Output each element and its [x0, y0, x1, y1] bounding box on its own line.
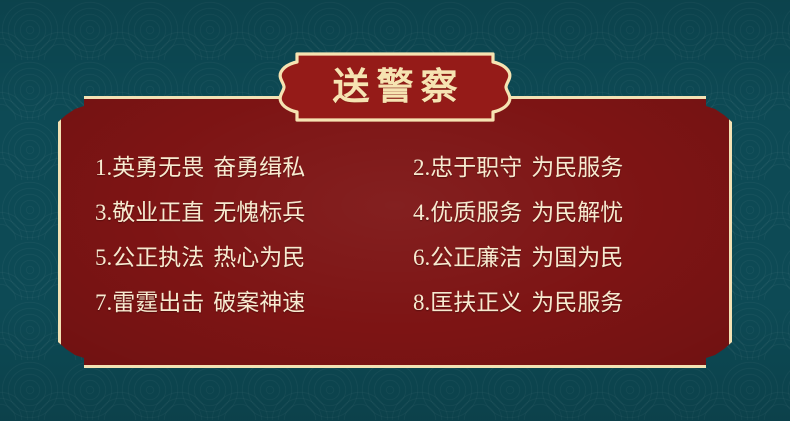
slogan-number: 4.	[413, 200, 430, 225]
slogan-list: 1.英勇无畏奋勇缉私 2.忠于职守为民服务 3.敬业正直无愧标兵 4.优质服务为…	[61, 145, 735, 325]
slogan-phrase-a: 匡扶正义	[430, 290, 522, 315]
slogan-phrase-a: 公正廉洁	[430, 245, 522, 270]
slogan-item-4: 4.优质服务为民解忧	[401, 201, 735, 224]
slogan-card: 1.英勇无畏奋勇缉私 2.忠于职守为民服务 3.敬业正直无愧标兵 4.优质服务为…	[58, 96, 732, 368]
slogan-phrase-b: 破案神速	[213, 290, 305, 315]
slogan-number: 8.	[413, 290, 430, 315]
slogan-number: 5.	[95, 245, 112, 270]
poster-stage: 1.英勇无畏奋勇缉私 2.忠于职守为民服务 3.敬业正直无愧标兵 4.优质服务为…	[0, 0, 790, 421]
banner-title: 送警察	[259, 52, 531, 122]
slogan-phrase-a: 英勇无畏	[112, 155, 204, 180]
slogan-item-8: 8.匡扶正义为民服务	[401, 291, 735, 314]
slogan-phrase-b: 为民解忧	[531, 200, 623, 225]
slogan-item-5: 5.公正执法热心为民	[61, 246, 401, 269]
slogan-item-1: 1.英勇无畏奋勇缉私	[61, 156, 401, 179]
slogan-phrase-b: 为民服务	[531, 290, 623, 315]
slogan-item-6: 6.公正廉洁为国为民	[401, 246, 735, 269]
slogan-phrase-a: 忠于职守	[430, 155, 522, 180]
slogan-phrase-a: 优质服务	[430, 200, 522, 225]
slogan-number: 7.	[95, 290, 112, 315]
slogan-item-3: 3.敬业正直无愧标兵	[61, 201, 401, 224]
slogan-phrase-b: 无愧标兵	[213, 200, 305, 225]
slogan-phrase-a: 公正执法	[112, 245, 204, 270]
slogan-row: 5.公正执法热心为民 6.公正廉洁为国为民	[61, 235, 735, 280]
slogan-phrase-a: 雷霆出击	[112, 290, 204, 315]
title-banner: 送警察	[259, 52, 531, 122]
slogan-row: 7.雷霆出击破案神速 8.匡扶正义为民服务	[61, 280, 735, 325]
slogan-row: 1.英勇无畏奋勇缉私 2.忠于职守为民服务	[61, 145, 735, 190]
slogan-row: 3.敬业正直无愧标兵 4.优质服务为民解忧	[61, 190, 735, 235]
slogan-phrase-b: 奋勇缉私	[213, 155, 305, 180]
slogan-item-7: 7.雷霆出击破案神速	[61, 291, 401, 314]
slogan-number: 2.	[413, 155, 430, 180]
slogan-number: 3.	[95, 200, 112, 225]
slogan-number: 6.	[413, 245, 430, 270]
slogan-item-2: 2.忠于职守为民服务	[401, 156, 735, 179]
slogan-phrase-b: 为国为民	[531, 245, 623, 270]
slogan-phrase-b: 热心为民	[213, 245, 305, 270]
slogan-phrase-b: 为民服务	[531, 155, 623, 180]
slogan-phrase-a: 敬业正直	[112, 200, 204, 225]
slogan-number: 1.	[95, 155, 112, 180]
